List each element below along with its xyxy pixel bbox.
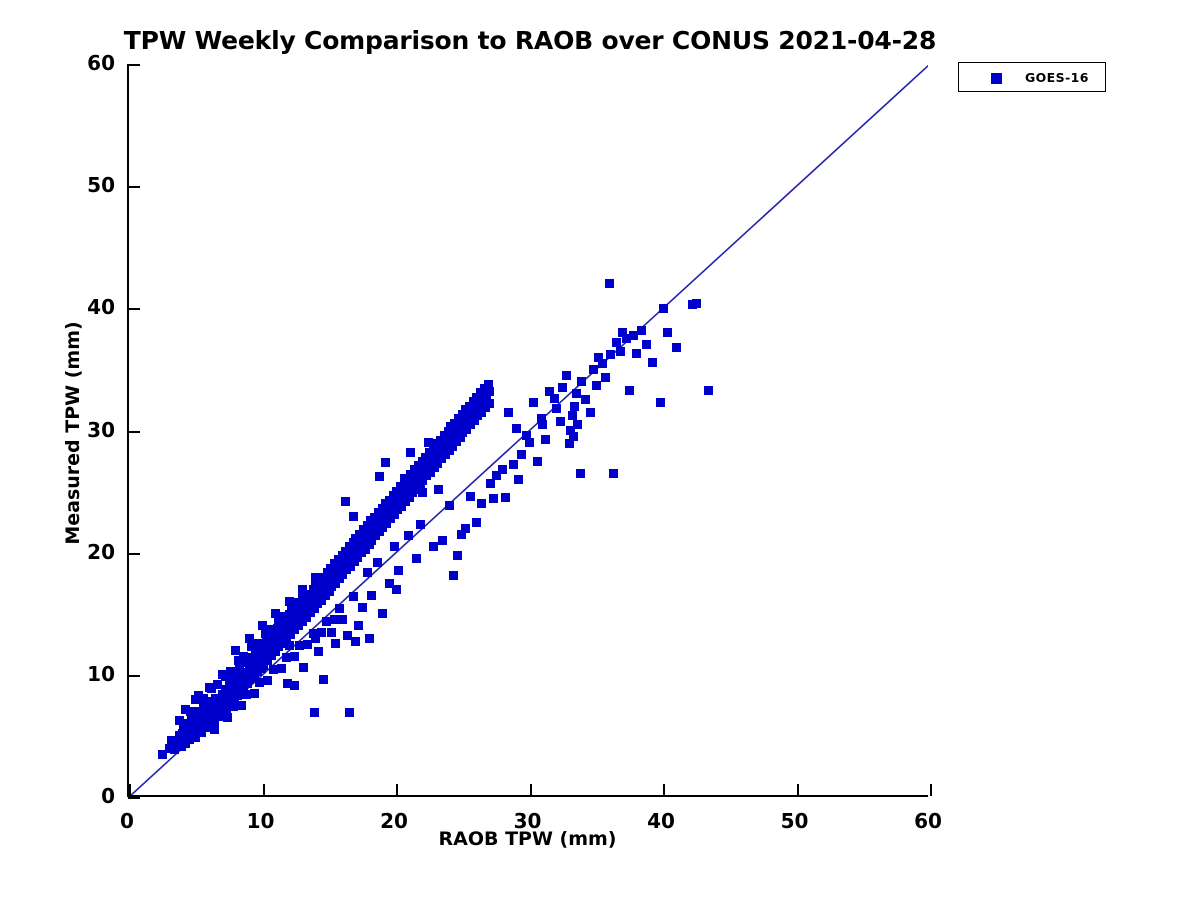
data-point xyxy=(338,615,347,624)
data-point xyxy=(632,349,641,358)
data-point xyxy=(325,569,334,578)
data-point xyxy=(601,373,610,382)
data-point xyxy=(509,460,518,469)
data-point xyxy=(271,609,280,618)
y-axis-label: Measured TPW (mm) xyxy=(62,63,84,803)
x-tick xyxy=(263,784,265,796)
data-point xyxy=(558,383,567,392)
data-point xyxy=(485,399,494,408)
page-title: TPW Weekly Comparison to RAOB over CONUS… xyxy=(0,26,1060,55)
data-point xyxy=(265,648,274,657)
data-point xyxy=(239,652,248,661)
chart-figure: TPW Weekly Comparison to RAOB over CONUS… xyxy=(0,0,1200,900)
x-tick xyxy=(663,784,665,796)
data-point xyxy=(245,634,254,643)
data-point xyxy=(373,558,382,567)
data-point xyxy=(529,398,538,407)
data-point xyxy=(311,573,320,582)
data-point xyxy=(589,365,598,374)
x-tick xyxy=(797,784,799,796)
data-point xyxy=(538,420,547,429)
data-point xyxy=(692,299,701,308)
data-point xyxy=(550,394,559,403)
x-axis-label: RAOB TPW (mm) xyxy=(127,828,928,850)
data-point xyxy=(663,328,672,337)
data-point xyxy=(237,701,246,710)
data-point xyxy=(477,499,486,508)
data-point xyxy=(461,524,470,533)
data-point xyxy=(576,469,585,478)
data-point xyxy=(648,358,657,367)
data-point xyxy=(656,398,665,407)
data-point xyxy=(363,568,372,577)
data-point xyxy=(466,492,475,501)
data-point xyxy=(642,340,651,349)
data-point xyxy=(285,641,294,650)
data-point xyxy=(592,381,601,390)
data-point xyxy=(349,592,358,601)
data-point xyxy=(331,639,340,648)
data-point xyxy=(279,612,288,621)
data-point xyxy=(311,634,320,643)
data-point xyxy=(412,554,421,563)
data-point xyxy=(327,628,336,637)
data-point xyxy=(358,603,367,612)
legend-entry-label: GOES-16 xyxy=(1025,70,1089,85)
data-point xyxy=(291,614,300,623)
data-point xyxy=(606,350,615,359)
data-point xyxy=(541,435,550,444)
data-point xyxy=(406,448,415,457)
data-point xyxy=(489,494,498,503)
data-point xyxy=(512,424,521,433)
data-point xyxy=(609,469,618,478)
data-point xyxy=(319,675,328,684)
data-point xyxy=(556,417,565,426)
data-point xyxy=(498,465,507,474)
data-point xyxy=(616,347,625,356)
data-point xyxy=(278,631,287,640)
data-point xyxy=(404,531,413,540)
data-point xyxy=(238,676,247,685)
data-point xyxy=(354,621,363,630)
data-point xyxy=(335,604,344,613)
data-point xyxy=(375,472,384,481)
data-point xyxy=(191,695,200,704)
y-tick xyxy=(128,431,140,433)
data-point xyxy=(365,634,374,643)
data-point xyxy=(253,639,262,648)
data-point xyxy=(438,536,447,545)
data-point xyxy=(290,681,299,690)
x-tick xyxy=(530,784,532,796)
legend-marker-swatch-icon xyxy=(991,73,1002,84)
data-point xyxy=(290,652,299,661)
data-point xyxy=(210,725,219,734)
y-tick xyxy=(128,797,140,799)
data-point xyxy=(704,386,713,395)
y-tick xyxy=(128,675,140,677)
data-point xyxy=(381,458,390,467)
data-point xyxy=(418,488,427,497)
data-point xyxy=(345,708,354,717)
data-point xyxy=(277,664,286,673)
data-point xyxy=(231,646,240,655)
data-point xyxy=(205,683,214,692)
data-point xyxy=(577,377,586,386)
y-tick xyxy=(128,186,140,188)
data-point xyxy=(258,621,267,630)
data-point xyxy=(445,501,454,510)
data-point xyxy=(504,408,513,417)
y-tick xyxy=(128,308,140,310)
data-point xyxy=(424,438,433,447)
data-point xyxy=(637,326,646,335)
data-point xyxy=(341,497,350,506)
x-tick xyxy=(930,784,932,796)
data-point xyxy=(659,304,668,313)
data-point xyxy=(581,395,590,404)
data-point xyxy=(293,598,302,607)
data-point xyxy=(453,551,462,560)
data-point xyxy=(311,586,320,595)
x-tick xyxy=(396,784,398,796)
data-point xyxy=(517,450,526,459)
data-point xyxy=(343,631,352,640)
data-point xyxy=(416,520,425,529)
data-point xyxy=(263,676,272,685)
data-point xyxy=(485,387,494,396)
data-point xyxy=(514,475,523,484)
data-point xyxy=(186,707,195,716)
data-point xyxy=(572,389,581,398)
data-point xyxy=(175,716,184,725)
data-point xyxy=(298,585,307,594)
data-point xyxy=(625,386,634,395)
data-point xyxy=(171,738,180,747)
data-point xyxy=(199,694,208,703)
data-point xyxy=(533,457,542,466)
data-point xyxy=(449,571,458,580)
data-point xyxy=(394,566,403,575)
data-point xyxy=(390,542,399,551)
data-point xyxy=(266,625,275,634)
data-point xyxy=(223,713,232,722)
data-point xyxy=(562,371,571,380)
x-tick xyxy=(129,784,131,796)
data-point xyxy=(605,279,614,288)
data-point xyxy=(178,729,187,738)
data-point xyxy=(392,585,401,594)
data-point xyxy=(598,359,607,368)
data-point xyxy=(285,623,294,632)
data-point xyxy=(400,474,409,483)
data-point xyxy=(218,670,227,679)
data-point xyxy=(501,493,510,502)
data-point xyxy=(299,663,308,672)
y-tick xyxy=(128,553,140,555)
data-point xyxy=(285,597,294,606)
y-tick xyxy=(128,64,140,66)
plot-canvas xyxy=(129,64,928,795)
data-point xyxy=(586,408,595,417)
data-point xyxy=(569,432,578,441)
data-point xyxy=(472,518,481,527)
data-point xyxy=(573,420,582,429)
data-point xyxy=(351,637,360,646)
data-point xyxy=(213,680,222,689)
data-point xyxy=(310,708,319,717)
data-point xyxy=(378,609,387,618)
data-point xyxy=(367,591,376,600)
data-point xyxy=(226,667,235,676)
legend[interactable]: GOES-16 xyxy=(958,62,1106,92)
data-point xyxy=(525,438,534,447)
data-point xyxy=(314,647,323,656)
data-point xyxy=(570,402,579,411)
data-point xyxy=(250,689,259,698)
plot-area xyxy=(127,64,928,797)
data-point xyxy=(198,714,207,723)
data-point xyxy=(552,404,561,413)
data-point xyxy=(672,343,681,352)
data-point xyxy=(434,485,443,494)
data-point xyxy=(349,512,358,521)
data-point xyxy=(429,542,438,551)
